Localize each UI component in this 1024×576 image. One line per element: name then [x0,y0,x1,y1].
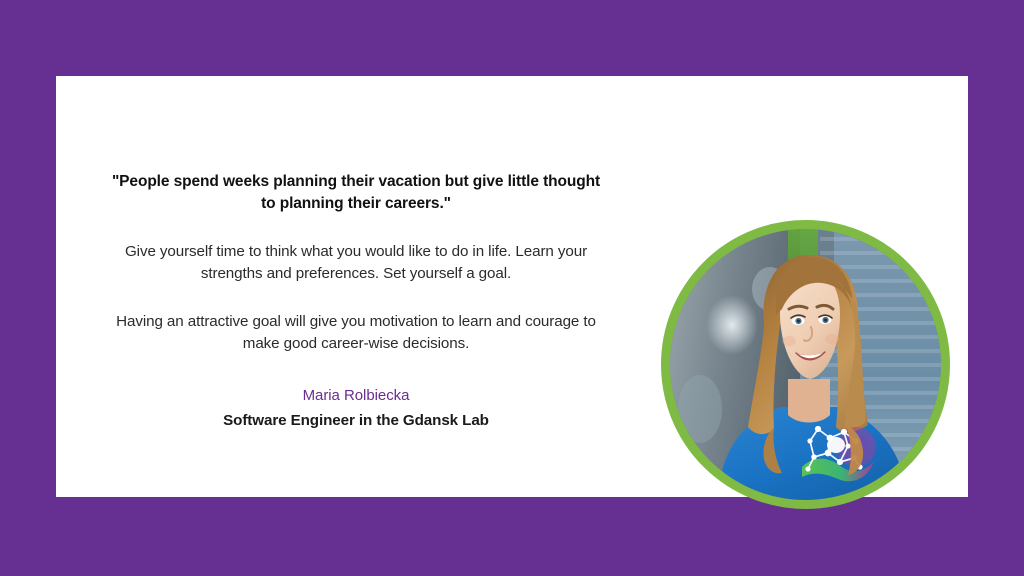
portrait-illustration [670,229,941,500]
attribution: Maria Rolbiecka Software Engineer in the… [111,385,601,432]
attribution-name: Maria Rolbiecka [111,385,601,407]
portrait-photo [661,220,950,509]
attribution-role: Software Engineer in the Gdansk Lab [111,410,601,432]
quote-headline: "People spend weeks planning their vacat… [111,171,601,215]
slide-canvas: "People spend weeks planning their vacat… [0,0,1024,576]
portrait-image-clip [670,229,941,500]
content-card: "People spend weeks planning their vacat… [56,76,968,497]
quote-paragraph-1: Give yourself time to think what you wou… [111,241,601,285]
quote-paragraph-2: Having an attractive goal will give you … [111,311,601,355]
quote-text-column: "People spend weeks planning their vacat… [111,171,601,432]
